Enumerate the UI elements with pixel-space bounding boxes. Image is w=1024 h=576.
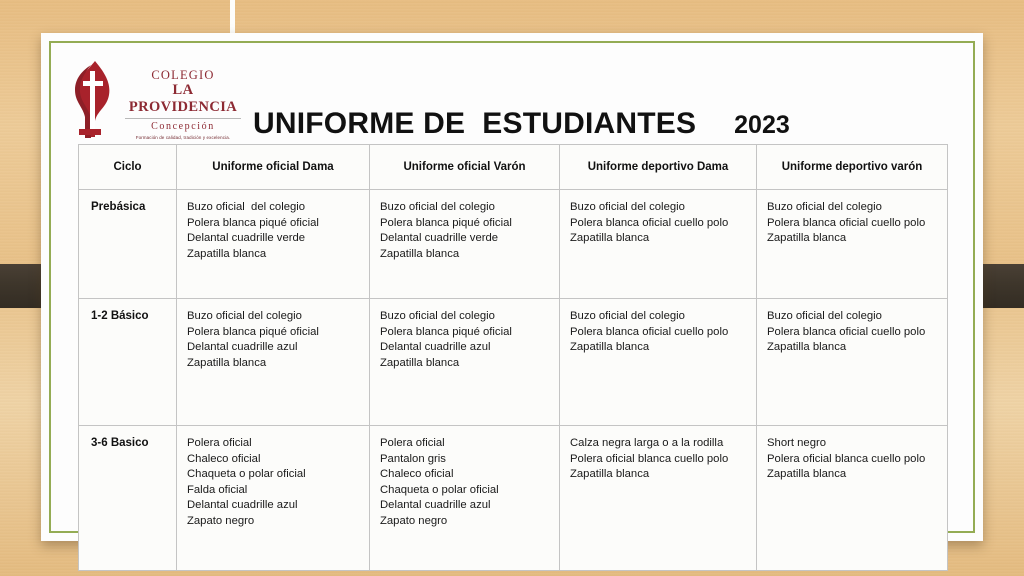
uniform-item: Buzo oficial del colegio [380,200,551,216]
uniform-item: Zapatilla blanca [767,340,939,356]
uniform-item: Delantal cuadrille azul [187,340,361,356]
uniform-item: Polera blanca oficial cuello polo [570,216,748,232]
uniform-item: Calza negra larga o a la rodilla [570,436,748,452]
uniform-item: Zapatilla blanca [570,231,748,247]
uniform-item: Chaqueta o polar oficial [187,467,361,483]
flame-cross-emblem-icon [65,59,119,143]
uniform-item: Zapatilla blanca [380,247,551,263]
cycle-label: 3-6 Basico [79,426,177,571]
uniform-item: Buzo oficial del colegio [767,309,939,325]
table-header-row: Ciclo Uniforme oficial Dama Uniforme ofi… [79,145,948,190]
uniform-item: Buzo oficial del colegio [570,309,748,325]
uniform-item: Zapatilla blanca [570,340,748,356]
cell-oficial-varon: Buzo oficial del colegioPolera blanca pi… [370,299,560,426]
uniform-item: Pantalon gris [380,452,551,468]
uniform-table-container: Ciclo Uniforme oficial Dama Uniforme ofi… [78,144,947,571]
logo-divider [125,118,241,119]
uniform-item: Zapatilla blanca [187,247,361,263]
column-header-ciclo: Ciclo [79,145,177,190]
column-header-uniforme-deportivo-dama: Uniforme deportivo Dama [560,145,757,190]
column-header-uniforme-oficial-dama: Uniforme oficial Dama [177,145,370,190]
logo-line-colegio: COLEGIO [123,68,243,82]
uniform-item: Delantal cuadrille verde [380,231,551,247]
uniform-item: Falda oficial [187,483,361,499]
table-row: Prebásica Buzo oficial del colegioPolera… [79,190,948,299]
uniform-item: Polera blanca piqué oficial [187,325,361,341]
uniform-item: Buzo oficial del colegio [380,309,551,325]
cell-deportivo-varon: Buzo oficial del colegioPolera blanca of… [757,299,948,426]
cycle-label: Prebásica [79,190,177,299]
uniform-item: Short negro [767,436,939,452]
table-row: 3-6 Basico Polera oficialChaleco oficial… [79,426,948,571]
column-header-uniforme-deportivo-varon: Uniforme deportivo varón [757,145,948,190]
cell-oficial-varon: Buzo oficial del colegioPolera blanca pi… [370,190,560,299]
logo-tagline: Formación de calidad, tradición y excele… [123,135,243,140]
uniform-item: Delantal cuadrille azul [187,498,361,514]
uniform-item: Zapato negro [187,514,361,530]
cell-oficial-dama: Buzo oficial del colegioPolera blanca pi… [177,299,370,426]
top-decorative-strip [230,0,235,34]
school-logo: COLEGIO LA PROVIDENCIA Concepción Formac… [65,49,243,153]
uniform-item: Buzo oficial del colegio [187,200,361,216]
slide-title-year: 2023 [734,111,790,140]
uniform-item: Buzo oficial del colegio [570,200,748,216]
uniform-item: Polera oficial [380,436,551,452]
uniform-item: Polera oficial blanca cuello polo [767,452,939,468]
slide-title-main: UNIFORME DE ESTUDIANTES [253,107,696,141]
uniform-item: Polera blanca oficial cuello polo [767,325,939,341]
column-header-uniforme-oficial-varon: Uniforme oficial Varón [370,145,560,190]
uniform-item: Chaqueta o polar oficial [380,483,551,499]
uniform-table-body: Prebásica Buzo oficial del colegioPolera… [79,190,948,571]
uniform-item: Zapatilla blanca [570,467,748,483]
uniform-item: Polera blanca piqué oficial [187,216,361,232]
uniform-item: Zapato negro [380,514,551,530]
uniform-item: Chaleco oficial [187,452,361,468]
slide-card: COLEGIO LA PROVIDENCIA Concepción Formac… [41,33,983,541]
uniform-item: Zapatilla blanca [380,356,551,372]
uniform-item: Buzo oficial del colegio [187,309,361,325]
uniform-item: Chaleco oficial [380,467,551,483]
table-row: 1-2 Básico Buzo oficial del colegioPoler… [79,299,948,426]
uniform-item: Zapatilla blanca [767,467,939,483]
cell-oficial-varon: Polera oficialPantalon grisChaleco ofici… [370,426,560,571]
uniform-item: Buzo oficial del colegio [767,200,939,216]
uniform-item: Zapatilla blanca [187,356,361,372]
cell-deportivo-dama: Buzo oficial del colegioPolera blanca of… [560,190,757,299]
presentation-slide: COLEGIO LA PROVIDENCIA Concepción Formac… [0,0,1024,576]
uniform-item: Delantal cuadrille azul [380,340,551,356]
uniform-item: Polera oficial blanca cuello polo [570,452,748,468]
uniform-item: Polera blanca piqué oficial [380,216,551,232]
cell-deportivo-dama: Buzo oficial del colegioPolera blanca of… [560,299,757,426]
uniform-item: Delantal cuadrille verde [187,231,361,247]
cell-oficial-dama: Polera oficialChaleco oficialChaqueta o … [177,426,370,571]
slide-title: UNIFORME DE ESTUDIANTES 2023 [253,107,790,141]
uniform-item: Polera blanca oficial cuello polo [570,325,748,341]
uniform-item: Delantal cuadrille azul [380,498,551,514]
cell-oficial-dama: Buzo oficial del colegioPolera blanca pi… [177,190,370,299]
uniform-item: Polera blanca oficial cuello polo [767,216,939,232]
cell-deportivo-dama: Calza negra larga o a la rodillaPolera o… [560,426,757,571]
logo-line-concepcion: Concepción [123,121,243,133]
uniform-item: Polera blanca piqué oficial [380,325,551,341]
uniform-item: Polera oficial [187,436,361,452]
logo-line-providencia: LA PROVIDENCIA [123,82,243,115]
cell-deportivo-varon: Buzo oficial del colegioPolera blanca of… [757,190,948,299]
cycle-label: 1-2 Básico [79,299,177,426]
uniform-table: Ciclo Uniforme oficial Dama Uniforme ofi… [78,144,948,571]
cell-deportivo-varon: Short negroPolera oficial blanca cuello … [757,426,948,571]
uniform-item: Zapatilla blanca [767,231,939,247]
